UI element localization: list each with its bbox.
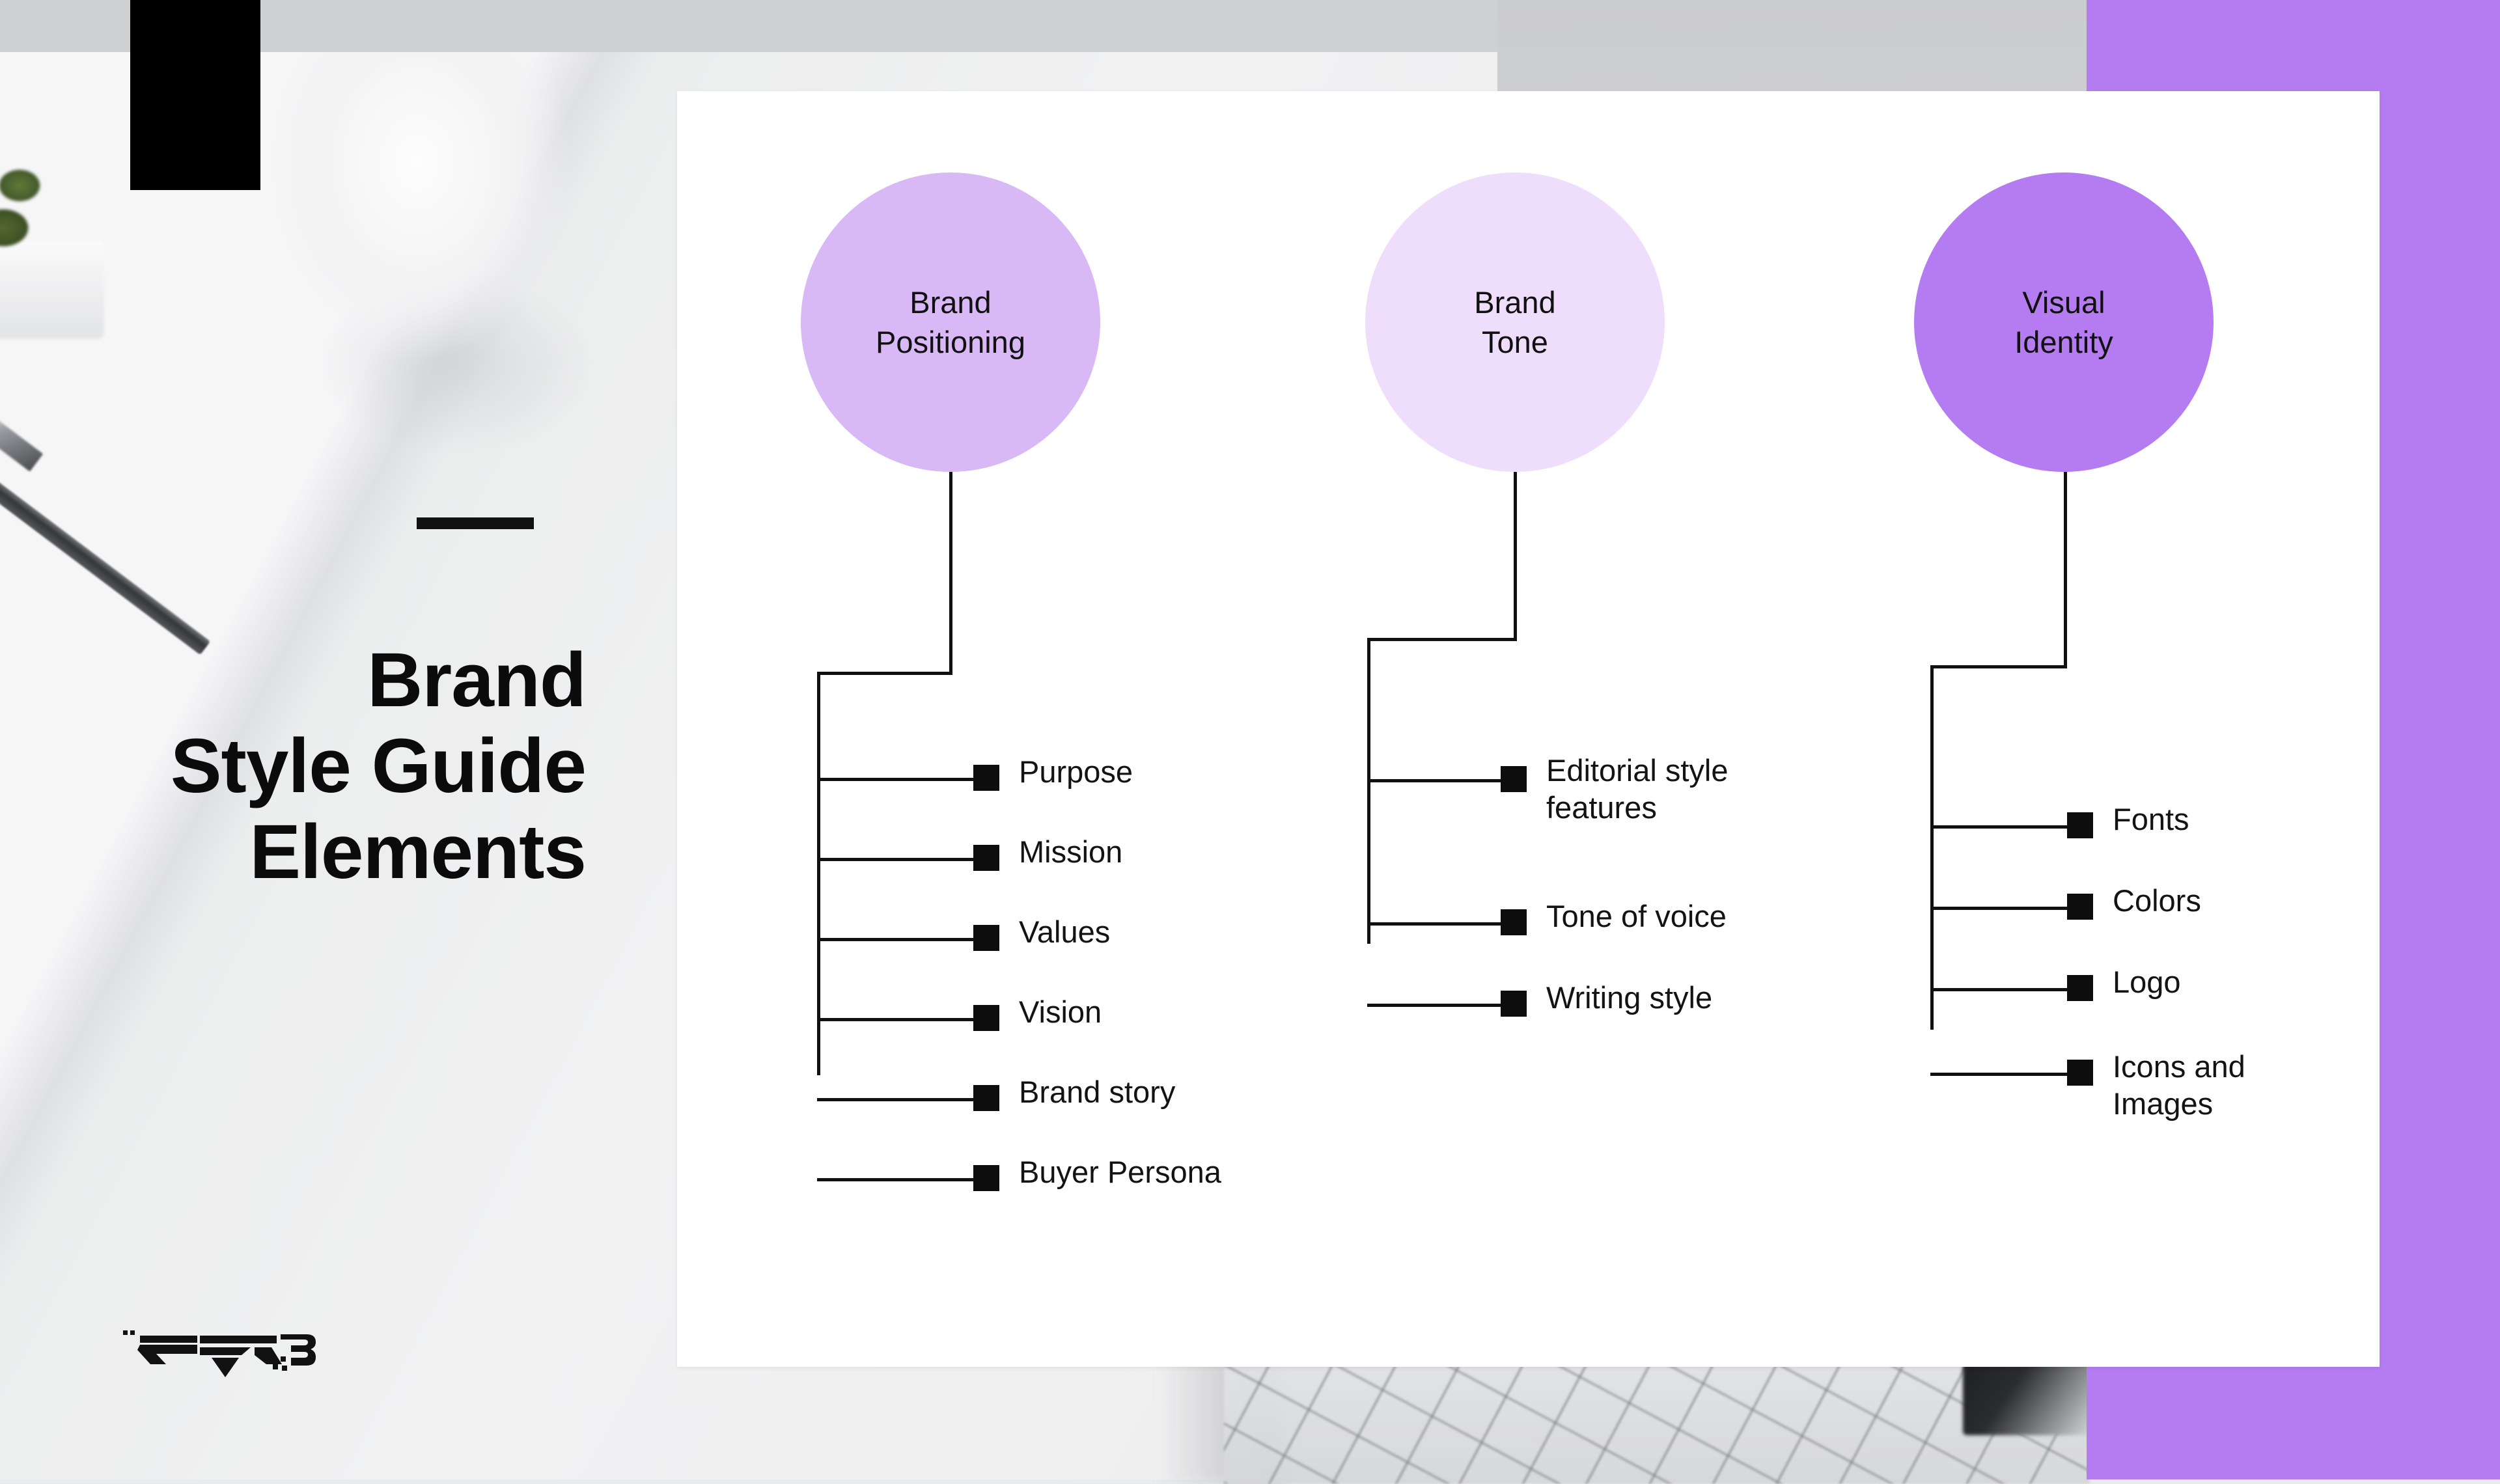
bullet-square: [1501, 991, 1527, 1017]
item-label: Mission: [1019, 833, 1122, 870]
item-label: Colors: [2113, 882, 2201, 919]
item-label: Tone of voice: [1546, 898, 1727, 935]
bullet-square: [973, 765, 999, 791]
bubble-brand-positioning[interactable]: Brand Positioning: [801, 172, 1100, 472]
connector-spine: [817, 672, 820, 1075]
branch-line: [817, 1178, 977, 1181]
bubble-label-line-2: Tone: [1474, 322, 1555, 362]
bullet-square: [973, 1085, 999, 1111]
branch-line: [817, 1098, 977, 1101]
column-brand-tone: Brand Tone Editorial style features Tone…: [1250, 91, 1797, 1367]
page-title-line-1: Brand: [78, 637, 586, 723]
bullet-square: [1501, 766, 1527, 792]
branch-line: [817, 778, 977, 781]
connector-spine: [1367, 638, 1370, 944]
connector-horizontal-elbow: [1930, 665, 2067, 668]
page-title-line-2: Style Guide: [78, 723, 586, 809]
branch-line: [1367, 779, 1504, 782]
bullet-square: [973, 845, 999, 871]
bullet-square: [973, 925, 999, 951]
connector-vertical-from-bubble: [1514, 472, 1517, 640]
bubble-label-line-1: Visual: [2014, 282, 2113, 322]
item-label: Values: [1019, 913, 1110, 950]
bubble-label-line-2: Positioning: [876, 322, 1025, 362]
page-title-line-3: Elements: [78, 809, 586, 895]
black-accent-rectangle: [130, 0, 260, 190]
bubble-label-line-2: Identity: [2014, 322, 2113, 362]
item-label: Brand story: [1019, 1073, 1175, 1110]
bubble-label-line-1: Brand: [1474, 282, 1555, 322]
diagram-card: Brand Positioning Purpose Mission Values…: [677, 91, 2380, 1367]
bullet-square: [2067, 894, 2093, 920]
item-label: Fonts: [2113, 801, 2189, 838]
reverb-logo: [120, 1321, 316, 1377]
branch-line: [817, 1018, 977, 1021]
item-label: Buyer Persona: [1019, 1153, 1221, 1190]
branch-line: [1930, 907, 2070, 910]
branch-line: [1930, 1073, 2070, 1076]
connector-vertical-from-bubble: [2064, 472, 2067, 667]
branch-line: [817, 858, 977, 861]
plant-leaves: [0, 166, 65, 280]
title-dash-rule: [417, 517, 534, 529]
item-label: Vision: [1019, 993, 1102, 1030]
branch-line: [1930, 825, 2070, 829]
connector-horizontal-elbow: [817, 672, 952, 675]
page-title: Brand Style Guide Elements: [78, 637, 586, 895]
item-label: Icons and Images: [2113, 1048, 2308, 1123]
column-visual-identity: Visual Identity Fonts Colors Logo Icons …: [1797, 91, 2380, 1367]
item-label: Editorial style features: [1546, 752, 1761, 827]
bullet-square: [2067, 1060, 2093, 1086]
column-brand-positioning: Brand Positioning Purpose Mission Values…: [677, 91, 1250, 1367]
connector-horizontal-elbow: [1367, 638, 1517, 641]
item-label: Logo: [2113, 963, 2181, 1000]
bubble-brand-tone[interactable]: Brand Tone: [1365, 172, 1665, 472]
bubble-visual-identity[interactable]: Visual Identity: [1914, 172, 2214, 472]
connector-spine: [1930, 665, 1934, 1030]
item-label: Purpose: [1019, 753, 1133, 790]
bubble-label-line-1: Brand: [876, 282, 1025, 322]
bullet-square: [1501, 909, 1527, 935]
branch-line: [1367, 1004, 1504, 1007]
bullet-square: [2067, 812, 2093, 838]
bullet-square: [2067, 975, 2093, 1001]
item-label: Writing style: [1546, 979, 1712, 1016]
bullet-square: [973, 1005, 999, 1031]
branch-line: [1367, 922, 1504, 926]
bullet-square: [973, 1165, 999, 1191]
branch-line: [817, 938, 977, 941]
connector-vertical-from-bubble: [949, 472, 952, 674]
branch-line: [1930, 988, 2070, 991]
